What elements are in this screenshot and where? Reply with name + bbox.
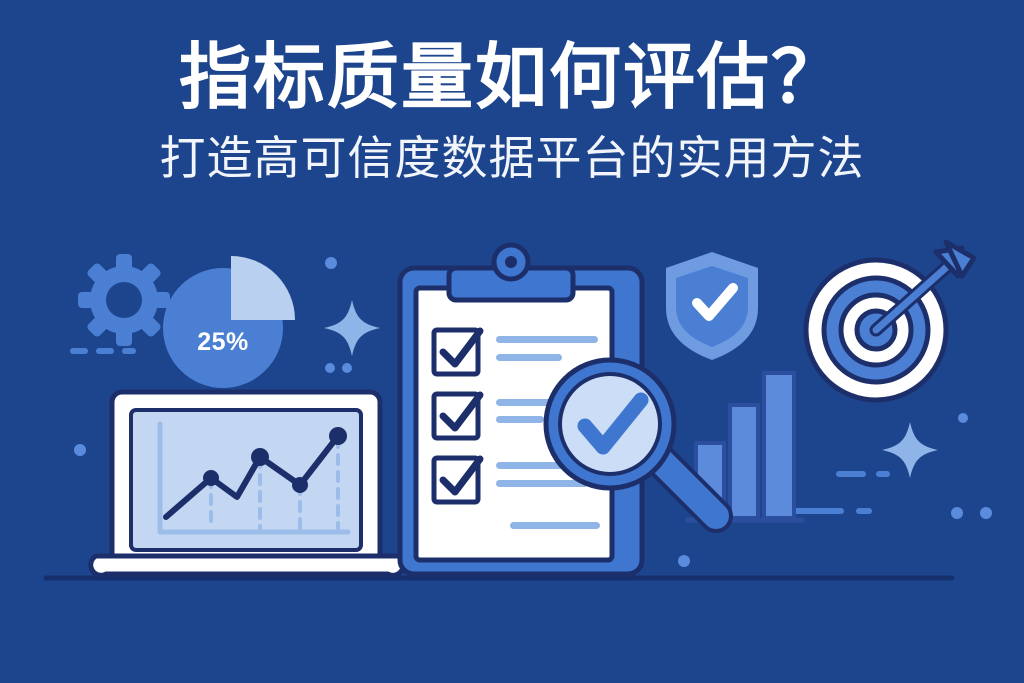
illustration-layer: [0, 0, 1024, 683]
text-line: [496, 416, 544, 423]
decor-dashes-right: [790, 471, 890, 514]
laptop-base: [91, 556, 404, 575]
poster-canvas: 指标质量如何评估？ 打造高可信度数据平台的实用方法 25%: [0, 0, 1024, 683]
pie-chart-label: 25%: [168, 328, 278, 357]
text-line: [496, 354, 562, 361]
shield-check-icon: [666, 252, 758, 360]
decor-dashes-left: [70, 348, 136, 354]
target-arrow-icon: [806, 242, 974, 400]
checkbox-item[interactable]: [434, 394, 480, 438]
laptop-line-chart: [91, 392, 404, 575]
gear-icon: [78, 254, 170, 346]
checkbox-item[interactable]: [434, 458, 480, 502]
sparkle-icon: [324, 300, 380, 356]
text-line: [510, 522, 600, 529]
checkbox-item[interactable]: [434, 330, 480, 374]
text-line: [496, 480, 588, 487]
pie-chart: [163, 256, 295, 388]
sparkle-icon: [882, 422, 938, 478]
pie-slice-25: [231, 256, 295, 320]
text-line: [496, 462, 566, 469]
text-line: [496, 336, 598, 343]
